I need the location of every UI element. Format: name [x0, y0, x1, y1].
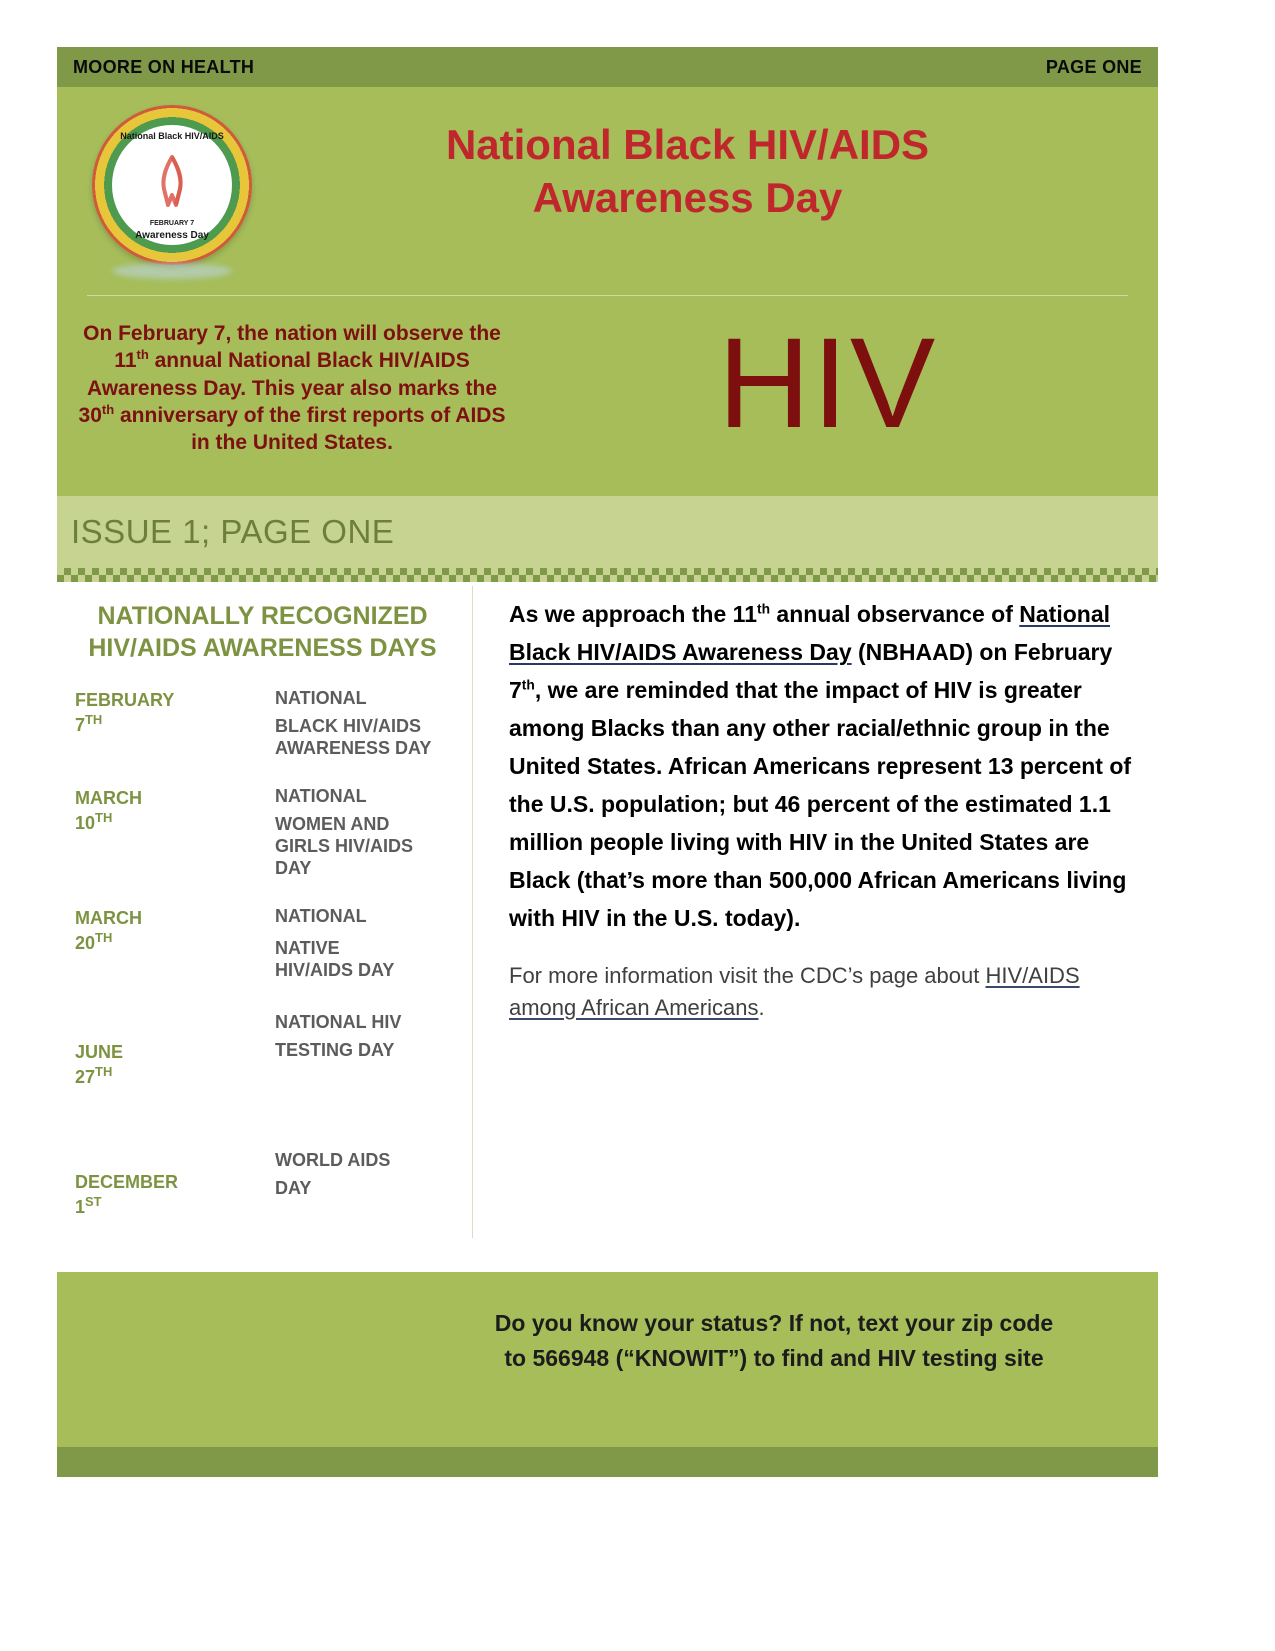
footer-message-line-1: Do you know your status? If not, text yo… [424, 1306, 1124, 1341]
awareness-day-ordinal: ST [85, 1194, 102, 1209]
lead-part-2: annual observance of [770, 601, 1019, 627]
awareness-day-ordinal: TH [95, 810, 112, 825]
checkered-divider [57, 568, 1158, 582]
awareness-day-name-line-2: NATIVE [275, 938, 450, 960]
lead-part-1: As we approach the 11 [509, 601, 757, 627]
lead-sup-1: th [757, 602, 770, 617]
hero-big-word: HIV [527, 320, 1158, 448]
awareness-day-number: 1 [75, 1197, 85, 1217]
awareness-day-name-line-1: NATIONAL [275, 906, 367, 926]
page-title: National Black HIV/AIDS Awareness Day [287, 97, 1158, 224]
hero-section: National Black HIV/AIDS FEBRUARY 7 Aware… [57, 87, 1158, 496]
logo-arc-top-text: National Black HIV/AIDS [92, 131, 252, 141]
awareness-day-date: MARCH 20TH [75, 906, 275, 982]
sidebar-heading: NATIONALLY RECOGNIZED HIV/AIDS AWARENESS… [75, 600, 450, 664]
article-column: As we approach the 11th annual observanc… [473, 582, 1158, 1272]
awareness-day-name: NATIONAL HIV TESTING DAY [275, 1012, 450, 1088]
awareness-day-ordinal: TH [85, 712, 102, 727]
hero-top-row: National Black HIV/AIDS FEBRUARY 7 Aware… [57, 87, 1158, 287]
awareness-day-name-line-4: DAY [395, 738, 431, 758]
logo-container: National Black HIV/AIDS FEBRUARY 7 Aware… [57, 97, 287, 265]
awareness-day-name: NATIONAL WOMEN AND GIRLS HIV/AIDS DAY [275, 786, 450, 880]
awareness-day-name-line-1: WORLD AIDS [275, 1150, 390, 1170]
awareness-day-name-line-1: NATIONAL [275, 688, 367, 708]
aids-ribbon-icon [155, 153, 189, 211]
awareness-day-name-line-2: WOMEN AND [275, 814, 450, 836]
hero-blurb-sup-2: th [102, 402, 114, 417]
sidebar-column: NATIONALLY RECOGNIZED HIV/AIDS AWARENESS… [57, 582, 472, 1272]
awareness-day-date: MARCH 10TH [75, 786, 275, 880]
awareness-day-name-line-3: HIV/AIDS DAY [275, 960, 394, 980]
awareness-day-month: DECEMBER [75, 1172, 178, 1192]
page-title-line-2: Awareness Day [287, 172, 1088, 225]
logo-arc-mid-text: FEBRUARY 7 [92, 220, 252, 227]
awareness-day-name: WORLD AIDS DAY [275, 1150, 450, 1218]
footer-message-line-2: to 566948 (“KNOWIT”) to find and HIV tes… [424, 1341, 1124, 1376]
awareness-day-name-line-2: TESTING DAY [275, 1040, 450, 1062]
awareness-day-number: 20 [75, 933, 95, 953]
awareness-day-date: JUNE 27TH [75, 1012, 275, 1088]
awareness-day-month: MARCH [75, 908, 142, 928]
awareness-day-name: NATIONAL NATIVE HIV/AIDS DAY [275, 906, 450, 982]
newsletter-page: MOORE ON HEALTH PAGE ONE National Black … [57, 47, 1158, 1559]
article-lead-paragraph: As we approach the 11th annual observanc… [509, 596, 1140, 937]
awareness-day-month: JUNE [75, 1042, 123, 1062]
awareness-day-date: DECEMBER 1ST [75, 1150, 275, 1218]
list-item: JUNE 27TH NATIONAL HIV TESTING DAY [75, 1012, 450, 1088]
masthead-bar: MOORE ON HEALTH PAGE ONE [57, 47, 1158, 87]
awareness-day-name-line-3: AWARENESS [275, 738, 390, 758]
lead-part-4: , we are reminded that the impact of HIV… [509, 677, 1131, 931]
awareness-day-name-line-2: DAY [275, 1178, 450, 1200]
list-item: FEBRUARY 7TH NATIONAL BLACK HIV/AIDS AWA… [75, 688, 450, 760]
list-item: DECEMBER 1ST WORLD AIDS DAY [75, 1150, 450, 1218]
footer-banner: Do you know your status? If not, text yo… [57, 1272, 1158, 1447]
hero-blurb: On February 7, the nation will observe t… [57, 320, 527, 456]
hero-blurb-sup-1: th [137, 347, 149, 362]
awareness-day-number: 10 [75, 813, 95, 833]
list-item: MARCH 10TH NATIONAL WOMEN AND GIRLS HIV/… [75, 786, 450, 880]
body-area: NATIONALLY RECOGNIZED HIV/AIDS AWARENESS… [57, 582, 1158, 1272]
followup-part-2: . [758, 995, 764, 1020]
awareness-day-name: NATIONAL BLACK HIV/AIDS AWARENESS DAY [275, 688, 450, 760]
awareness-day-name-line-1: NATIONAL [275, 786, 367, 806]
awareness-day-number: 27 [75, 1067, 95, 1087]
followup-part-1: For more information visit the CDC’s pag… [509, 963, 985, 988]
page-title-line-1: National Black HIV/AIDS [287, 119, 1088, 172]
awareness-day-name-line-2: BLACK HIV/AIDS [275, 716, 450, 738]
logo-arc-bottom-text: Awareness Day [92, 230, 252, 241]
issue-band-label: ISSUE 1; PAGE ONE [71, 513, 394, 551]
issue-band: ISSUE 1; PAGE ONE [57, 496, 1158, 568]
awareness-day-ordinal: TH [95, 930, 112, 945]
awareness-day-month: FEBRUARY [75, 690, 174, 710]
awareness-day-month: MARCH [75, 788, 142, 808]
awareness-day-ordinal: TH [95, 1064, 112, 1079]
footer-dark-bar [57, 1447, 1158, 1477]
logo-shadow [112, 263, 232, 279]
nbhaad-logo-icon: National Black HIV/AIDS FEBRUARY 7 Aware… [92, 105, 252, 265]
footer-message: Do you know your status? If not, text yo… [424, 1306, 1124, 1375]
awareness-day-number: 7 [75, 715, 85, 735]
awareness-day-name-line-3: GIRLS HIV/AIDS [275, 836, 413, 856]
lead-sup-2: th [522, 678, 535, 693]
masthead-page-label: PAGE ONE [1046, 57, 1142, 78]
article-followup-paragraph: For more information visit the CDC’s pag… [509, 960, 1140, 1024]
masthead-publication-title: MOORE ON HEALTH [73, 57, 254, 78]
awareness-day-name-line-1: NATIONAL HIV [275, 1012, 401, 1032]
awareness-day-date: FEBRUARY 7TH [75, 688, 275, 760]
hero-blurb-part-3: anniversary of the first reports of AIDS… [114, 404, 505, 454]
hero-bottom-row: On February 7, the nation will observe t… [57, 296, 1158, 496]
awareness-day-name-line-4: DAY [275, 858, 311, 878]
list-item: MARCH 20TH NATIONAL NATIVE HIV/AIDS DAY [75, 906, 450, 982]
